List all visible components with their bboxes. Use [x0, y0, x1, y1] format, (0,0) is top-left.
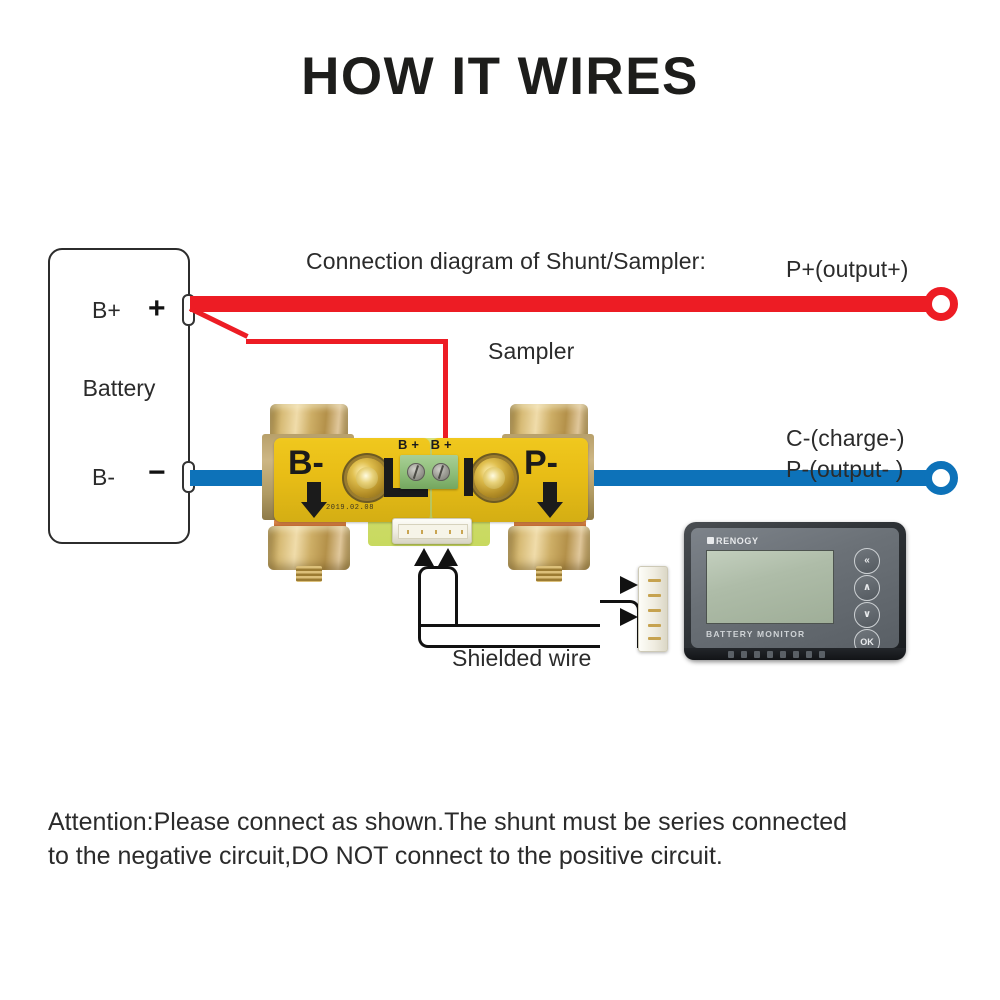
positive-branch-horizontal — [246, 339, 448, 344]
shielded-wire-top-bend — [418, 566, 458, 590]
monitor-face: RENOGY BATTERY MONITOR « ∧ ∨ OK — [691, 528, 899, 648]
terminal-screw-1 — [407, 463, 425, 481]
attention-note: Attention:Please connect as shown.The sh… — [48, 805, 958, 873]
sampler-label: Sampler — [488, 338, 574, 365]
connector-arrow-lower — [620, 608, 638, 626]
connection-diagram-heading: Connection diagram of Shunt/Sampler: — [306, 248, 706, 275]
shunt-left-bottom-nut — [268, 526, 350, 570]
monitor-lcd-screen — [706, 550, 834, 624]
shunt-left-bolt — [347, 458, 387, 498]
output-positive-label: P+(output+) — [786, 256, 909, 283]
pcb-date-code: 2019.02.08 — [326, 504, 374, 512]
pcb-label-b-minus: B- — [288, 446, 324, 480]
pcb-label-b-plus: B+ B+ — [398, 438, 456, 451]
pcb-arrow-right — [534, 482, 566, 518]
monitor-rj-connector — [638, 566, 668, 652]
battery-negative-sign: − — [148, 458, 166, 488]
positive-output-ring-terminal — [924, 287, 958, 321]
negative-output-ring-terminal — [924, 461, 958, 495]
shielded-wire-label: Shielded wire — [452, 645, 591, 672]
output-negative-label: P-(output- ) — [786, 456, 904, 483]
shunt-right-stud — [536, 566, 562, 582]
monitor-down-button[interactable]: ∨ — [854, 602, 880, 628]
shunt-left-stud — [296, 566, 322, 582]
shunt-right-bottom-nut — [508, 526, 590, 570]
battery-positive-label: B+ — [92, 297, 121, 324]
terminal-screw-2 — [432, 463, 450, 481]
pcb-trace-right-vertical — [464, 458, 473, 496]
battery-negative-label: B- — [92, 464, 115, 491]
pcb-trace-left-horizontal — [384, 488, 428, 497]
monitor-up-button[interactable]: ∧ — [854, 575, 880, 601]
monitor-base — [684, 648, 906, 660]
shielded-wire-arrow-right — [438, 548, 458, 566]
shunt-jst-connector — [392, 518, 472, 544]
monitor-brand: RENOGY — [716, 536, 759, 546]
positive-main-wire — [190, 296, 932, 312]
attention-note-line1: Attention:Please connect as shown.The sh… — [48, 805, 958, 839]
pcb-label-p-minus: P- — [524, 446, 558, 480]
attention-note-line2: to the negative circuit,DO NOT connect t… — [48, 839, 958, 873]
pcb-arrow-left — [298, 482, 330, 518]
page-title: HOW IT WIRES — [0, 46, 1000, 107]
sampler-terminal-block — [400, 455, 458, 489]
battery-monitor: RENOGY BATTERY MONITOR « ∧ ∨ OK — [684, 522, 906, 660]
shielded-wire-arrow-left — [414, 548, 434, 566]
battery-positive-sign: + — [148, 294, 166, 324]
connector-arrow-upper — [620, 576, 638, 594]
monitor-back-button[interactable]: « — [854, 548, 880, 574]
shunt-right-bolt — [474, 458, 514, 498]
shielded-wire-vertical — [418, 588, 458, 626]
monitor-caption: BATTERY MONITOR — [706, 629, 805, 639]
output-charge-negative-label: C-(charge-) — [786, 425, 905, 452]
battery-label: Battery — [48, 375, 190, 402]
diagram-canvas: HOW IT WIRES Connection diagram of Shunt… — [0, 0, 1000, 1000]
renogy-logo-mark — [707, 537, 714, 544]
